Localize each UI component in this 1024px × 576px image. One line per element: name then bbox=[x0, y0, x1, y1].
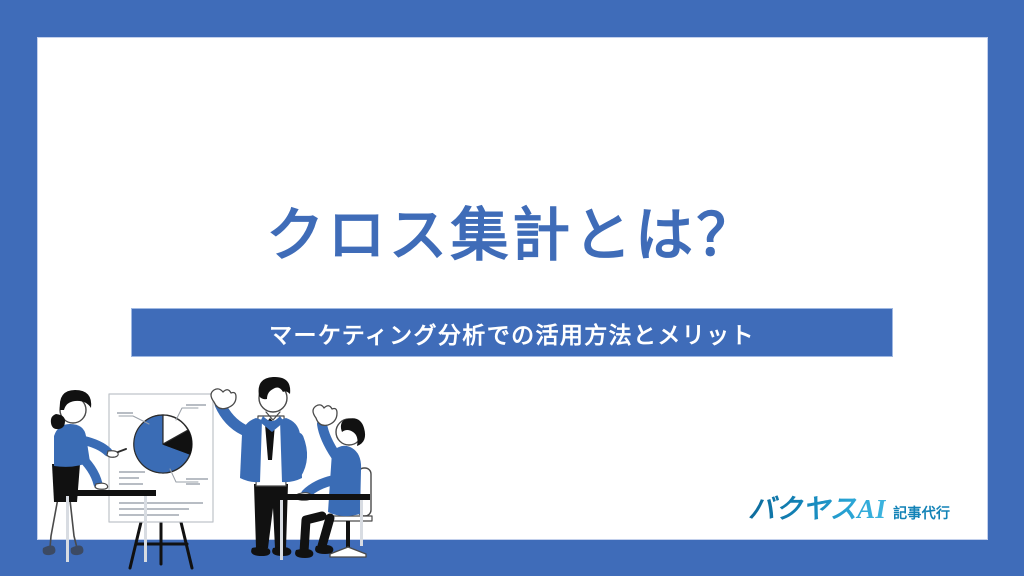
brand-lockup: バクヤスAI 記事代行 bbox=[748, 487, 950, 526]
subtitle-text: マーケティング分析での活用方法とメリット bbox=[269, 316, 755, 350]
brand-service-label: 記事代行 bbox=[893, 503, 950, 523]
illustration-business-meeting bbox=[30, 368, 410, 576]
page-title: クロス集計とは？ bbox=[0, 203, 1024, 270]
figure-man-presenting bbox=[211, 377, 302, 556]
slide-canvas: クロス集計とは？ マーケティング分析での活用方法とメリット bbox=[0, 0, 1024, 576]
brand-name: バクヤスAI bbox=[748, 487, 886, 526]
subtitle-band: マーケティング分析での活用方法とメリット bbox=[131, 308, 893, 357]
flipchart-easel bbox=[109, 394, 213, 568]
pie-chart bbox=[134, 415, 192, 473]
